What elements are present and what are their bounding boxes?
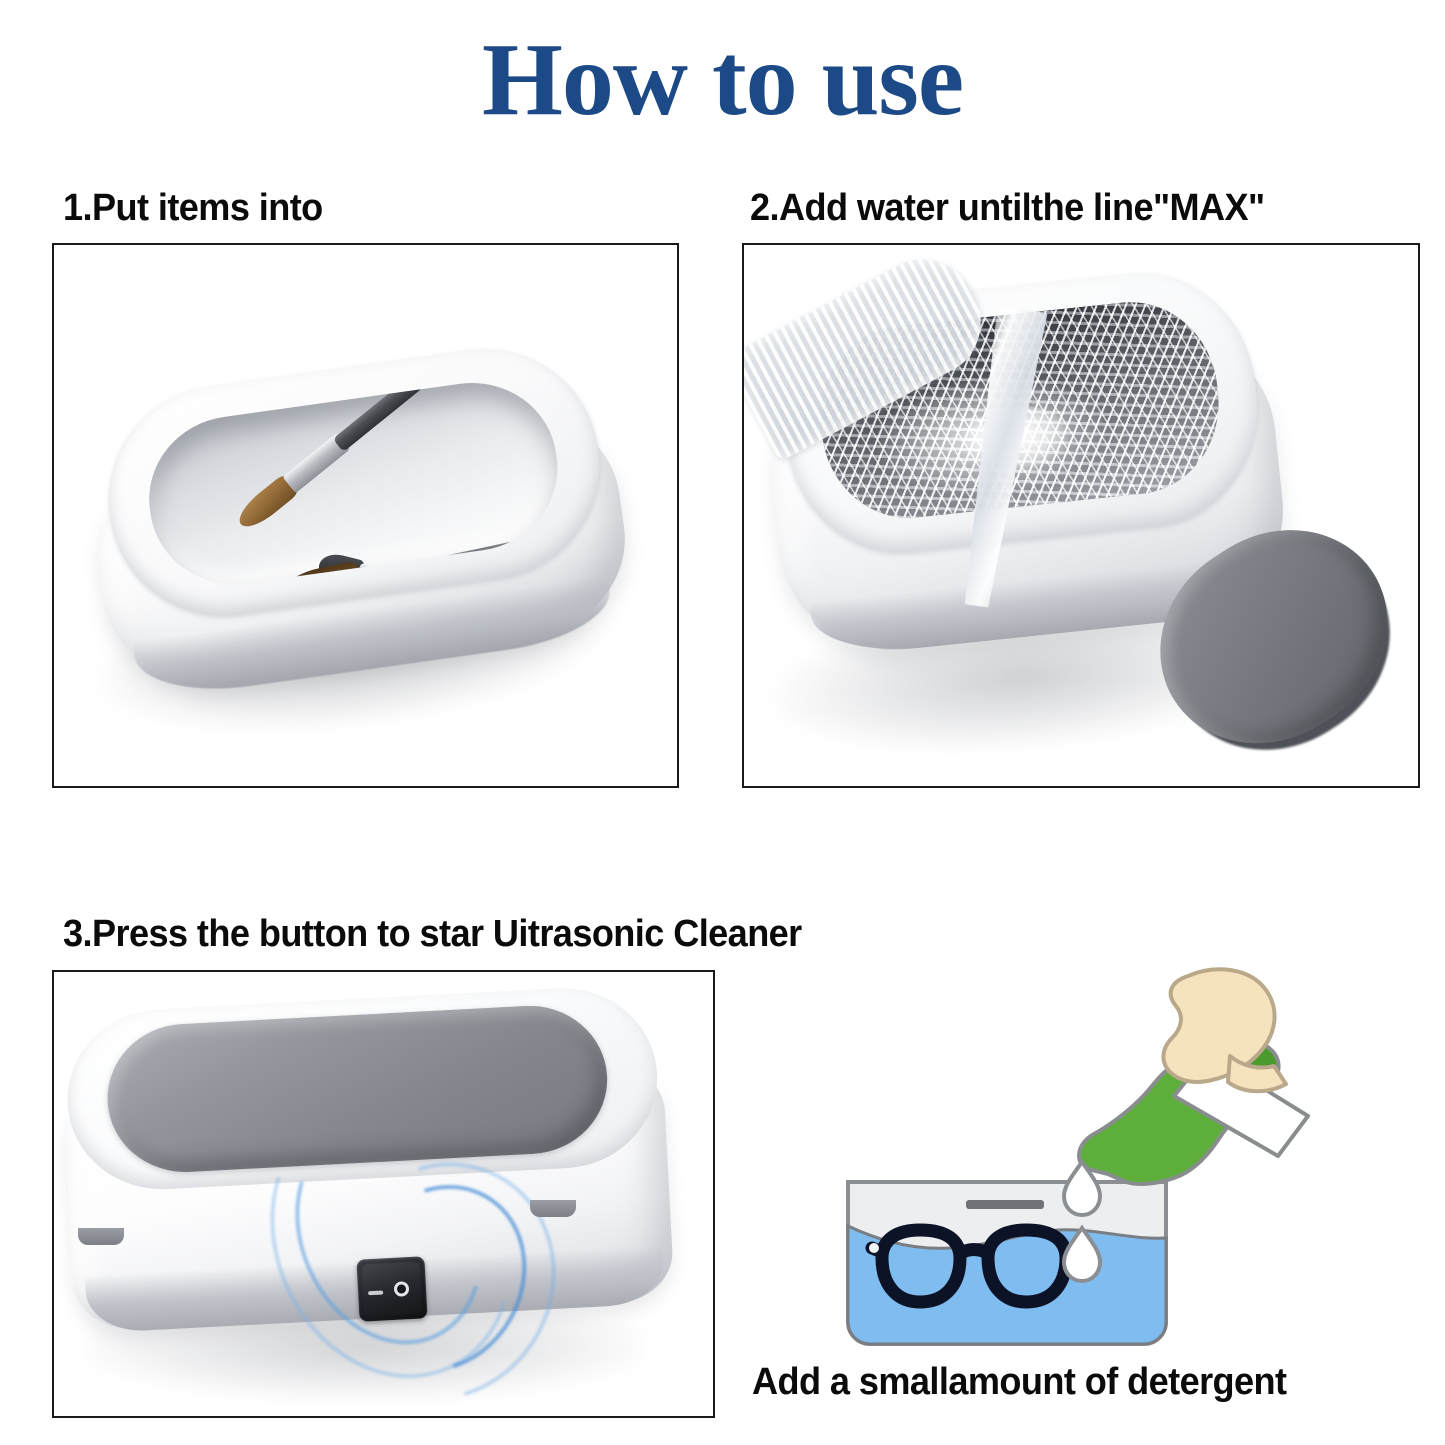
device-foot (78, 1228, 124, 1245)
max-level-line-icon (966, 1200, 1044, 1209)
detergent-illustration (838, 960, 1418, 1355)
ultrasonic-cleaner-filling (750, 253, 1318, 745)
step-1-scene (54, 245, 677, 786)
hand-icon (1163, 969, 1286, 1091)
switch-on-symbol-icon (368, 1290, 383, 1295)
detergent-caption: Add a smallamount of detergent (752, 1363, 1286, 1401)
tank-group (848, 1182, 1166, 1344)
power-switch-button[interactable] (356, 1256, 427, 1321)
page-title: How to use (0, 22, 1445, 138)
step-2-photo-panel (742, 243, 1420, 788)
switch-rocker[interactable] (362, 1262, 423, 1317)
step-1-heading: 1.Put items into (63, 189, 323, 227)
device-foot (530, 1200, 576, 1217)
overlay-canvas (52, 970, 715, 1418)
step-3-overlay (52, 970, 715, 1418)
step-1-photo-panel (52, 243, 679, 788)
step-2-heading: 2.Add water untilthe line"MAX" (750, 189, 1265, 227)
step-2-scene (744, 245, 1418, 786)
step-3-heading: 3.Press the button to star Uitrasonic Cl… (63, 915, 802, 953)
glasses-hinge (869, 1243, 879, 1253)
